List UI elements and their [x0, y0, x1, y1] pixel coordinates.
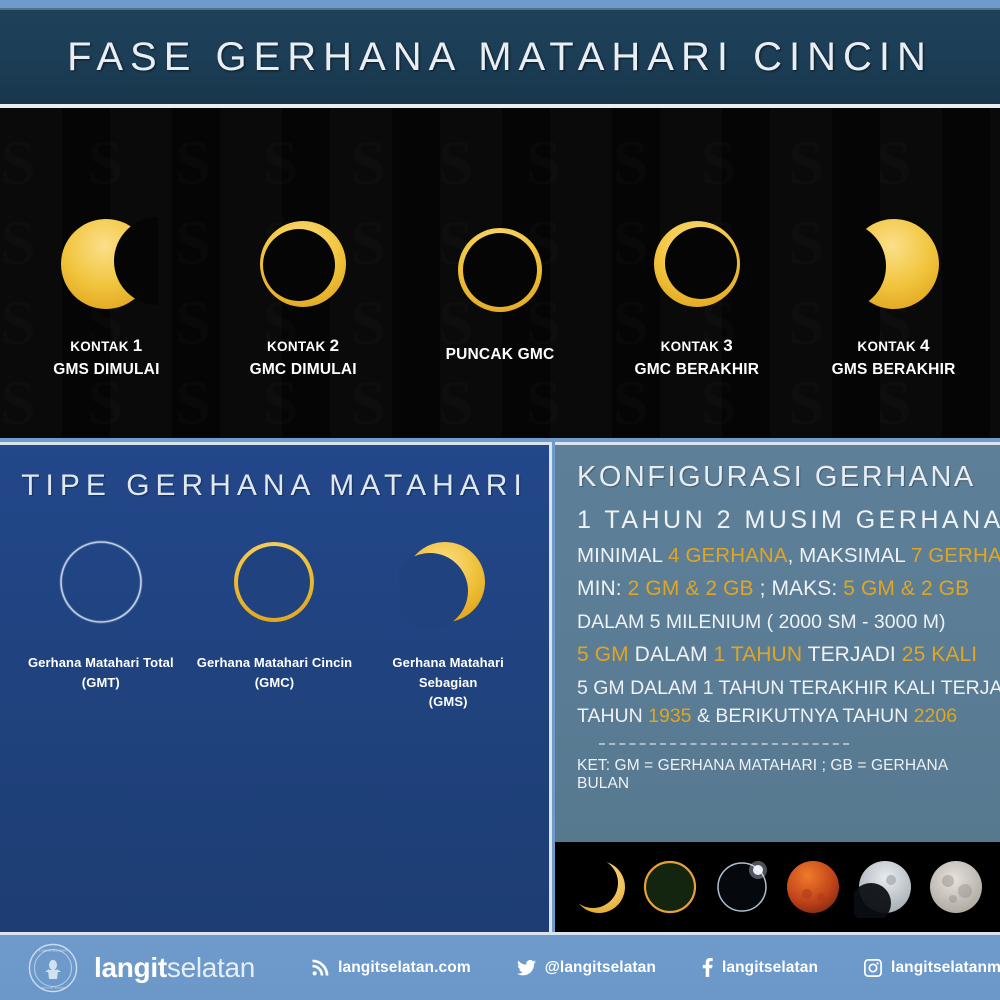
title-bar: FASE GERHANA MATAHARI CINCIN	[0, 8, 1000, 104]
brand-logo[interactable]: LANGITSELATAN Astronomi Indonesia langit…	[28, 943, 255, 993]
config-line-5-g2: 1 TAHUN	[713, 643, 802, 666]
facebook-icon	[702, 958, 713, 977]
phase-caption: KONTAK 1GMS DIMULAI	[53, 334, 159, 381]
phase-contact-number: 4	[920, 336, 930, 355]
phase-kontak-1: KONTAK 1GMS DIMULAI	[16, 108, 196, 381]
twitter-link[interactable]: @langitselatan	[517, 959, 656, 977]
type-gms: Gerhana Matahari Sebagian(GMS)	[364, 533, 532, 712]
phase-contact-label: KONTAK 4	[832, 334, 956, 359]
config-legend: KET: GM = GERHANA MATAHARI ; GB = GERHAN…	[577, 757, 986, 793]
config-title: KONFIGURASI GERHANA	[577, 461, 986, 494]
eclipse-types-panel: TIPE GERHANA MATAHARI Gerhana Matahari T…	[0, 442, 552, 932]
config-line-2-b: , MAKSIMAL	[788, 544, 911, 567]
phase-kontak-2: KONTAK 2GMC DIMULAI	[213, 108, 393, 381]
config-line-3-g1: 2 GM & 2 GB	[628, 577, 754, 600]
photo-crescent-eclipse	[568, 856, 630, 918]
phase-contact-label: KONTAK 3	[634, 334, 759, 359]
sun-bite-left-icon	[842, 212, 946, 316]
footer-bar: LANGITSELATAN Astronomi Indonesia langit…	[0, 932, 1000, 1000]
phase-kontak-4: KONTAK 4GMS BERAKHIR	[804, 108, 984, 381]
phase-contact-label: KONTAK 1	[53, 334, 159, 359]
config-line-2-a: MINIMAL	[577, 544, 668, 567]
phase-caption: KONTAK 2GMC DIMULAI	[250, 334, 357, 381]
facebook-label: langitselatan	[722, 959, 818, 977]
config-line-2: MINIMAL 4 GERHANA, MAKSIMAL 7 GERHANA	[577, 543, 986, 569]
type-gmt: Gerhana Matahari Total(GMT)	[17, 533, 185, 712]
config-divider	[599, 743, 849, 745]
svg-text:LANGITSELATAN: LANGITSELATAN	[39, 948, 67, 952]
config-line-5-a: DALAM	[629, 643, 714, 666]
config-line-7-a: TAHUN	[577, 705, 648, 727]
gold-crescent-icon	[399, 533, 497, 631]
phase-contact-number: 1	[133, 336, 143, 355]
config-line-5-b: TERJADI	[802, 643, 902, 666]
phase-sub-label: GMC DIMULAI	[250, 359, 357, 381]
langitselatan-seal-icon: LANGITSELATAN Astronomi Indonesia	[28, 943, 78, 993]
gold-ring-icon	[225, 533, 323, 631]
brand-name-bold: langit	[94, 952, 167, 983]
config-line-7-g2: 2206	[914, 705, 957, 727]
eclipse-photo-strip	[555, 842, 1000, 932]
type-label: Gerhana Matahari Cincin(GMC)	[197, 653, 352, 692]
types-title: TIPE GERHANA MATAHARI	[0, 469, 549, 503]
page-title: FASE GERHANA MATAHARI CINCIN	[67, 35, 933, 80]
phase-contact-number: 2	[330, 336, 340, 355]
config-line-3-b: ; MAKS:	[754, 577, 844, 600]
phase-sub-label: GMS BERAKHIR	[832, 359, 956, 381]
types-row: Gerhana Matahari Total(GMT)Gerhana Matah…	[0, 533, 549, 712]
photo-partial-lunar	[854, 856, 916, 918]
eclipse-config-panel: KONFIGURASI GERHANA 1 TAHUN 2 MUSIM GERH…	[555, 442, 1000, 842]
config-line-3: MIN: 2 GM & 2 GB ; MAKS: 5 GM & 2 GB	[577, 576, 986, 603]
config-line-7-b: & BERIKUTNYA TAHUN	[692, 705, 914, 727]
rss-link[interactable]: langitselatan.com	[311, 959, 471, 977]
photo-full-moon	[925, 856, 987, 918]
config-line-7-g1: 1935	[648, 705, 691, 727]
phase-sub-label: PUNCAK GMC	[446, 344, 555, 366]
instagram-link[interactable]: langitselatanmedia	[864, 959, 1000, 977]
config-line-3-g2: 5 GM & 2 GB	[843, 577, 969, 600]
ring-thick-right-icon	[251, 212, 355, 316]
rss-icon	[311, 959, 329, 977]
phase-row: KONTAK 1GMS DIMULAIKONTAK 2GMC DIMULAIPU…	[0, 108, 1000, 438]
type-label: Gerhana Matahari Total(GMT)	[28, 653, 174, 692]
config-line-7: TAHUN 1935 & BERIKUTNYA TAHUN 2206	[577, 704, 986, 729]
phase-kontak-3: KONTAK 3GMC BERAKHIR	[607, 108, 787, 381]
ring-thin-icon	[448, 218, 552, 322]
config-line-5: 5 GM DALAM 1 TAHUN TERJADI 25 KALI	[577, 642, 986, 669]
ring-thick-left-icon	[645, 212, 749, 316]
rss-label: langitselatan.com	[338, 959, 471, 977]
type-gmc: Gerhana Matahari Cincin(GMC)	[190, 533, 358, 712]
facebook-link[interactable]: langitselatan	[702, 958, 818, 977]
phase-contact-label: KONTAK 2	[250, 334, 357, 359]
phase-caption: KONTAK 4GMS BERAKHIR	[832, 334, 956, 381]
svg-text:Astronomi Indonesia: Astronomi Indonesia	[41, 985, 66, 989]
photo-blood-moon	[782, 856, 844, 918]
config-line-5-g1: 5 GM	[577, 643, 629, 666]
config-subtitle: 1 TAHUN 2 MUSIM GERHANA	[577, 504, 986, 536]
photo-total-eclipse	[711, 856, 773, 918]
config-line-2-g1: 4 GERHANA	[668, 544, 787, 567]
phase-sub-label: GMC BERAKHIR	[634, 359, 759, 381]
phase-caption: KONTAK 3GMC BERAKHIR	[634, 334, 759, 381]
config-line-4: DALAM 5 MILENIUM ( 2000 SM - 3000 M)	[577, 610, 986, 635]
phase-puncak: PUNCAK GMC	[410, 108, 590, 366]
photo-annular-eclipse	[639, 856, 701, 918]
config-line-6: 5 GM DALAM 1 TAHUN TERAKHIR KALI TERJADI	[577, 676, 986, 701]
twitter-icon	[517, 959, 536, 977]
instagram-icon	[864, 959, 882, 977]
brand-name-light: selatan	[167, 952, 255, 983]
brand-name: langitselatan	[94, 952, 255, 984]
social-links: langitselatan.com @langitselatan langits…	[311, 958, 1000, 977]
infographic-poster: FASE GERHANA MATAHARI CINCIN SSSSSSSSSSS…	[0, 0, 1000, 1000]
eclipse-phases-section: SSSSSSSSSSS SSSSSSSSSSS SSSSSSSSSSS SSSS…	[0, 108, 1000, 438]
sun-bite-right-icon	[54, 212, 158, 316]
phase-caption: PUNCAK GMC	[446, 344, 555, 366]
config-line-2-g2: 7 GERHANA	[911, 544, 1000, 567]
twitter-label: @langitselatan	[545, 959, 656, 977]
corona-ring-icon	[52, 533, 150, 631]
config-line-3-a: MIN:	[577, 577, 628, 600]
instagram-label: langitselatanmedia	[891, 959, 1000, 977]
phase-sub-label: GMS DIMULAI	[53, 359, 159, 381]
type-label: Gerhana Matahari Sebagian(GMS)	[364, 653, 532, 712]
phase-contact-number: 3	[723, 336, 733, 355]
config-line-5-g3: 25 KALI	[902, 643, 977, 666]
